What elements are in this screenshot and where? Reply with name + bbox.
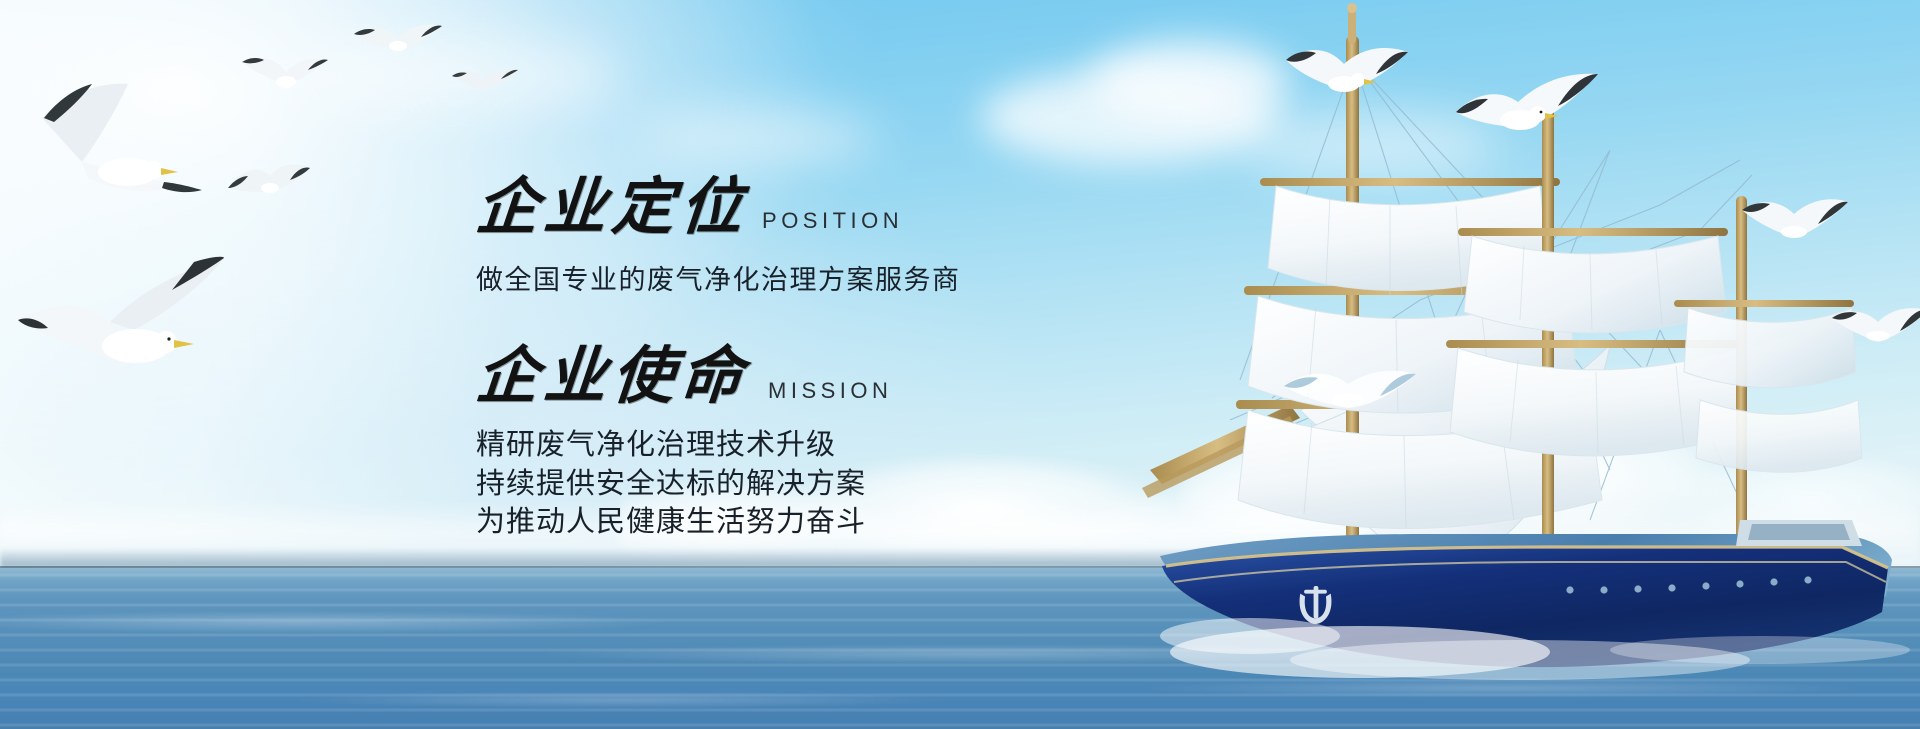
headline-mission-en: MISSION	[768, 378, 892, 410]
block-position: 企业定位 POSITION 做全国专业的废气净化治理方案服务商	[476, 176, 1036, 297]
headline-row-position: 企业定位 POSITION	[476, 176, 1036, 242]
cloud-icon	[640, 110, 880, 166]
seagull-icon	[352, 16, 444, 76]
seagull-icon	[1452, 58, 1602, 158]
headline-position-cn: 企业定位	[473, 176, 751, 242]
headline-row-mission: 企业使命 MISSION	[476, 345, 1036, 411]
seagull-icon	[226, 158, 312, 224]
seagull-icon	[1280, 352, 1420, 422]
mission-line: 精研废气净化治理技术升级	[476, 426, 1036, 464]
banner-copy: 企业定位 POSITION 做全国专业的废气净化治理方案服务商 企业使命 MIS…	[476, 176, 1036, 541]
seagull-icon	[18, 250, 228, 400]
hero-banner: 企业定位 POSITION 做全国专业的废气净化治理方案服务商 企业使命 MIS…	[0, 0, 1920, 729]
headline-position-en: POSITION	[762, 208, 903, 242]
mission-body-lines: 精研废气净化治理技术升级 持续提供安全达标的解决方案 为推动人民健康生活努力奋斗	[476, 426, 1036, 541]
seagull-icon	[1282, 36, 1412, 126]
subline-position: 做全国专业的废气净化治理方案服务商	[476, 258, 1036, 297]
seagull-icon	[240, 48, 330, 120]
mission-line: 持续提供安全达标的解决方案	[476, 465, 1036, 503]
block-mission: 企业使命 MISSION 精研废气净化治理技术升级 持续提供安全达标的解决方案 …	[476, 345, 1036, 542]
mission-line: 为推动人民健康生活努力奋斗	[476, 503, 1036, 541]
seagull-icon	[36, 78, 206, 218]
seagull-icon	[1830, 300, 1920, 362]
seagull-icon	[1740, 190, 1850, 260]
seagull-icon	[450, 62, 520, 108]
headline-mission-cn: 企业使命	[473, 345, 751, 411]
